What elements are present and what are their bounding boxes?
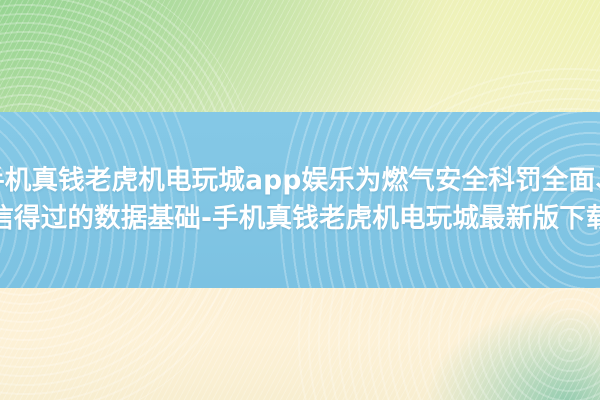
page-title: 手机真钱老虎机电玩城app娱乐为燃气安全科罚全面、信得过的数据基础-手机真钱老虎…	[0, 162, 600, 238]
banner-image: 手机真钱老虎机电玩城app娱乐为燃气安全科罚全面、信得过的数据基础-手机真钱老虎…	[0, 0, 600, 400]
headline-container: 手机真钱老虎机电玩城app娱乐为燃气安全科罚全面、信得过的数据基础-手机真钱老虎…	[0, 112, 600, 288]
